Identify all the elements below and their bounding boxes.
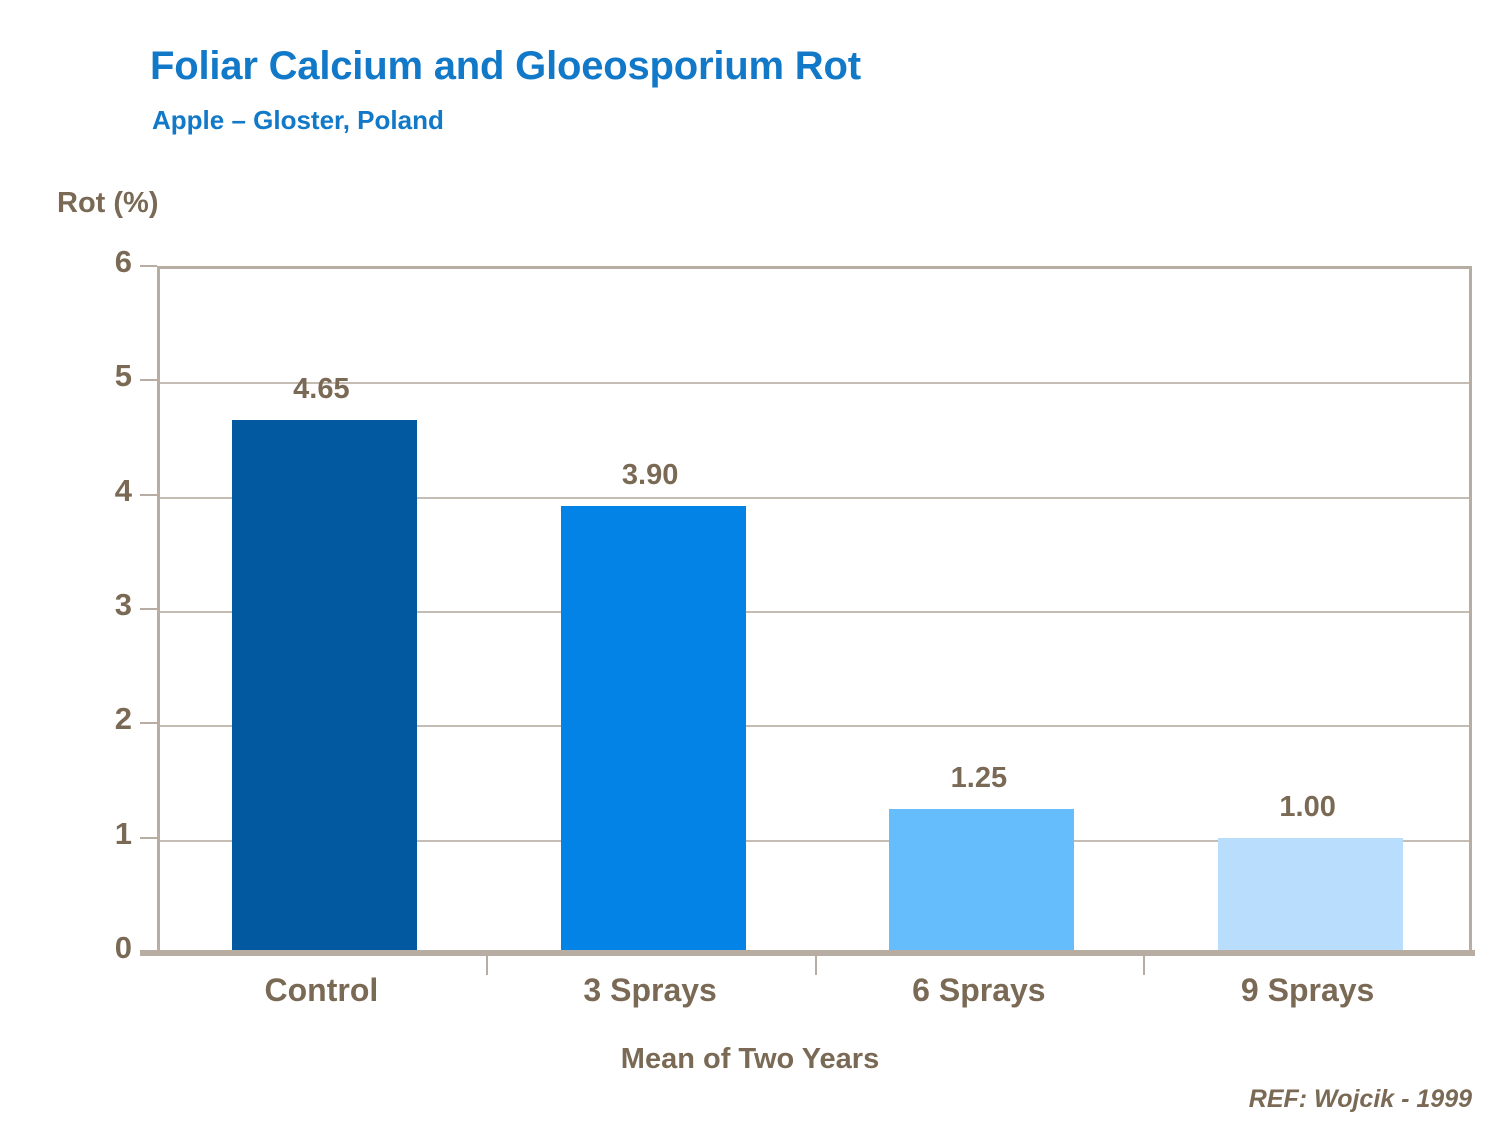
bar[interactable] (1218, 838, 1403, 952)
y-axis-tick-label: 3 (72, 587, 132, 623)
x-axis-category-label: 3 Sprays (486, 972, 815, 1009)
bar-value-label: 4.65 (189, 373, 454, 406)
page-subtitle: Apple – Gloster, Poland (152, 105, 444, 136)
x-axis-line (140, 950, 1475, 956)
y-axis-tick-label: 4 (72, 473, 132, 509)
y-axis-tick (140, 379, 157, 381)
y-axis-tick-label: 6 (72, 244, 132, 280)
y-axis-tick-label: 5 (72, 358, 132, 394)
chart-plot-area (157, 266, 1472, 952)
y-axis-tick (140, 951, 157, 953)
x-axis-category-label: 6 Sprays (815, 972, 1144, 1009)
bar-value-label: 3.90 (518, 459, 783, 492)
y-axis-tick (140, 837, 157, 839)
y-axis-tick (140, 494, 157, 496)
x-axis-category-label: 9 Sprays (1143, 972, 1472, 1009)
y-axis-tick-label: 1 (72, 816, 132, 852)
bar[interactable] (889, 809, 1074, 952)
y-axis-tick (140, 265, 157, 267)
y-axis-tick-label: 2 (72, 701, 132, 737)
page-title: Foliar Calcium and Gloeosporium Rot (150, 44, 861, 89)
x-axis-category-label: Control (157, 972, 486, 1009)
bar-value-label: 1.25 (846, 762, 1111, 795)
y-axis-tick (140, 608, 157, 610)
y-axis-title: Rot (%) (57, 187, 158, 220)
bar[interactable] (561, 506, 746, 952)
reference-note: REF: Wojcik - 1999 (1249, 1085, 1472, 1114)
bar[interactable] (232, 420, 417, 952)
slide-canvas: Foliar Calcium and Gloeosporium Rot Appl… (0, 0, 1500, 1125)
bar-value-label: 1.00 (1175, 791, 1440, 824)
y-axis-tick (140, 722, 157, 724)
y-axis-tick-label: 0 (72, 930, 132, 966)
x-axis-title: Mean of Two Years (0, 1043, 1500, 1076)
